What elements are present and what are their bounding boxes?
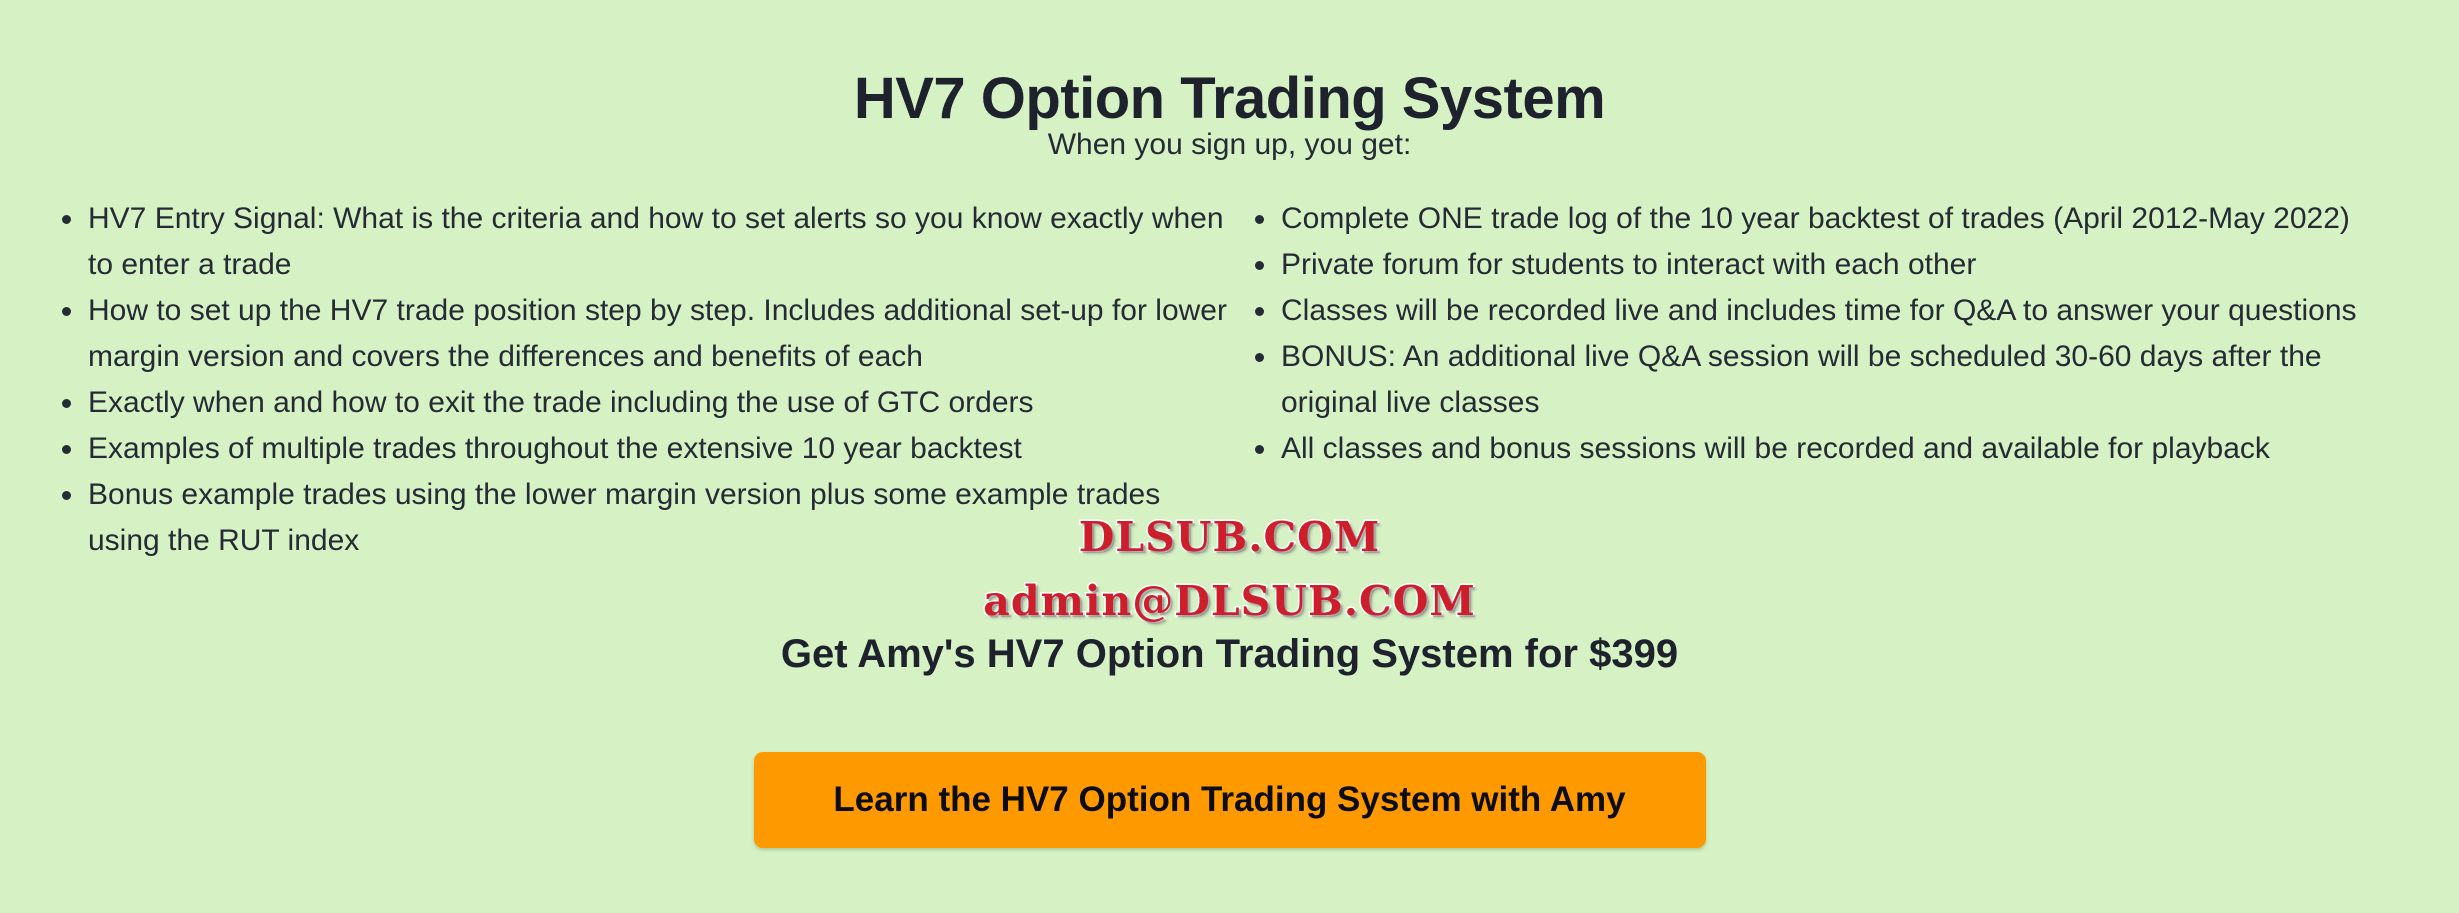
- list-item: HV7 Entry Signal: What is the criteria a…: [88, 196, 1230, 288]
- price-heading: Get Amy's HV7 Option Trading System for …: [0, 630, 2459, 678]
- list-item: BONUS: An additional live Q&A session wi…: [1281, 334, 2419, 426]
- list-item: Bonus example trades using the lower mar…: [88, 472, 1230, 564]
- page-subtitle: When you sign up, you get:: [0, 126, 2459, 164]
- page-title: HV7 Option Trading System: [0, 67, 2459, 131]
- cta-container: Learn the HV7 Option Trading System with…: [0, 752, 2459, 848]
- list-item: Classes will be recorded live and includ…: [1281, 288, 2419, 334]
- benefits-columns: HV7 Entry Signal: What is the criteria a…: [0, 196, 2459, 564]
- promo-page: HV7 Option Trading System When you sign …: [0, 0, 2459, 913]
- list-item: How to set up the HV7 trade position ste…: [88, 288, 1230, 380]
- list-item: Private forum for students to interact w…: [1281, 242, 2419, 288]
- benefits-right-list: Complete ONE trade log of the 10 year ba…: [1245, 196, 2419, 472]
- watermark-email: admin@DLSUB.COM: [0, 577, 2459, 625]
- benefits-left-list: HV7 Entry Signal: What is the criteria a…: [52, 196, 1230, 564]
- watermark-email-text: admin@DLSUB.COM: [983, 577, 1475, 625]
- benefits-left-column: HV7 Entry Signal: What is the criteria a…: [0, 196, 1240, 564]
- list-item: Complete ONE trade log of the 10 year ba…: [1281, 196, 2419, 242]
- list-item: Exactly when and how to exit the trade i…: [88, 380, 1230, 426]
- list-item: Examples of multiple trades throughout t…: [88, 426, 1230, 472]
- list-item: All classes and bonus sessions will be r…: [1281, 426, 2419, 472]
- learn-system-button[interactable]: Learn the HV7 Option Trading System with…: [754, 752, 1706, 848]
- benefits-right-column: Complete ONE trade log of the 10 year ba…: [1240, 196, 2459, 472]
